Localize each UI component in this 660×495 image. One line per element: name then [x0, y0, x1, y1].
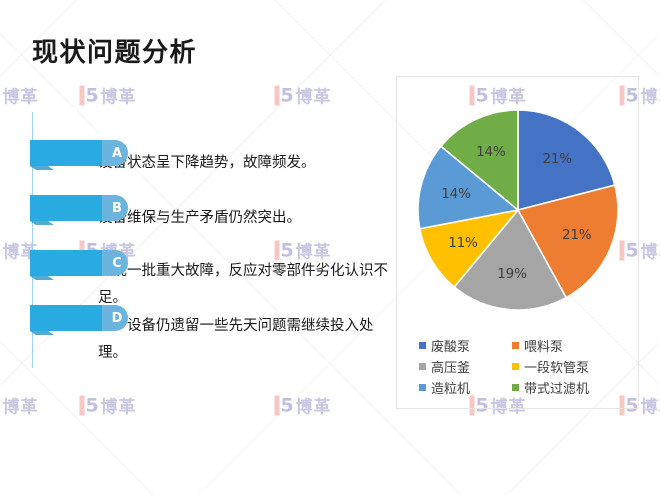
watermark-text: 博革: [296, 393, 332, 418]
legend-swatch-icon: [512, 363, 519, 370]
watermark-logo: 5博革: [275, 393, 332, 418]
pie-chart-panel: 21%21%19%11%14%14% 废酸泵喂料泵高压釜一段软管泵造粒机带式过滤…: [396, 76, 639, 409]
watermark-logo: 5博革: [0, 83, 39, 108]
legend-label: 废酸泵: [431, 336, 470, 355]
watermark-text: 博革: [3, 83, 39, 108]
pie-slice-label-3: 11%: [448, 235, 477, 251]
pie-slice-label-2: 19%: [497, 266, 526, 282]
legend-label: 高压釜: [431, 357, 470, 376]
bullet-badge-c: C: [102, 250, 128, 276]
watermark-logo: 5博革: [275, 83, 332, 108]
bullet-item-d: D: [30, 305, 370, 335]
legend-item-3[interactable]: 一段软管泵: [512, 357, 627, 376]
legend-item-4[interactable]: 造粒机: [419, 378, 512, 397]
legend-item-0[interactable]: 废酸泵: [419, 336, 512, 355]
bullet-badge-d: D: [102, 305, 128, 331]
legend-item-5[interactable]: 带式过滤机: [512, 378, 627, 397]
watermark-text: 博革: [101, 393, 137, 418]
pie-slice-label-5: 14%: [476, 144, 505, 160]
watermark-text: 博革: [3, 393, 39, 418]
bullet-item-a: A: [30, 140, 370, 170]
watermark-logo: 5博革: [80, 83, 137, 108]
legend-item-2[interactable]: 高压釜: [419, 357, 512, 376]
pie-slice-label-4: 14%: [441, 186, 470, 202]
legend-swatch-icon: [419, 384, 426, 391]
brand-logo-icon: 5: [80, 85, 97, 105]
bullet-badge-a: A: [102, 140, 128, 166]
legend-label: 一段软管泵: [524, 357, 589, 376]
watermark-text: 博革: [641, 238, 660, 263]
brand-logo-icon: 5: [80, 395, 97, 415]
legend-item-1[interactable]: 喂料泵: [512, 336, 627, 355]
bullet-item-c: C: [30, 250, 370, 280]
chart-legend: 废酸泵喂料泵高压釜一段软管泵造粒机带式过滤机: [419, 335, 629, 398]
pie-chart-svg: [407, 99, 629, 321]
watermark-text: 博革: [641, 393, 660, 418]
watermark-text: 博革: [641, 83, 660, 108]
bullet-item-b: B: [30, 195, 370, 225]
brand-logo-icon: 5: [275, 395, 292, 415]
legend-label: 造粒机: [431, 378, 470, 397]
watermark-logo: 5博革: [80, 393, 137, 418]
legend-swatch-icon: [419, 342, 426, 349]
bullet-badge-b: B: [102, 195, 128, 221]
page-title: 现状问题分析: [32, 32, 197, 69]
legend-swatch-icon: [512, 384, 519, 391]
pie-slice-label-1: 21%: [562, 227, 591, 243]
watermark-logo: 5博革: [0, 393, 39, 418]
legend-swatch-icon: [512, 342, 519, 349]
watermark-text: 博革: [296, 83, 332, 108]
legend-label: 喂料泵: [524, 336, 563, 355]
watermark-text: 博革: [101, 83, 137, 108]
legend-swatch-icon: [419, 363, 426, 370]
pie-chart: 21%21%19%11%14%14%: [407, 99, 629, 321]
brand-logo-icon: 5: [275, 85, 292, 105]
legend-label: 带式过滤机: [524, 378, 589, 397]
slide-canvas: 现状问题分析 ABCD 21%21%19%11%14%14% 废酸泵喂料泵高压釜…: [0, 0, 660, 495]
pie-slice-label-0: 21%: [542, 151, 571, 167]
